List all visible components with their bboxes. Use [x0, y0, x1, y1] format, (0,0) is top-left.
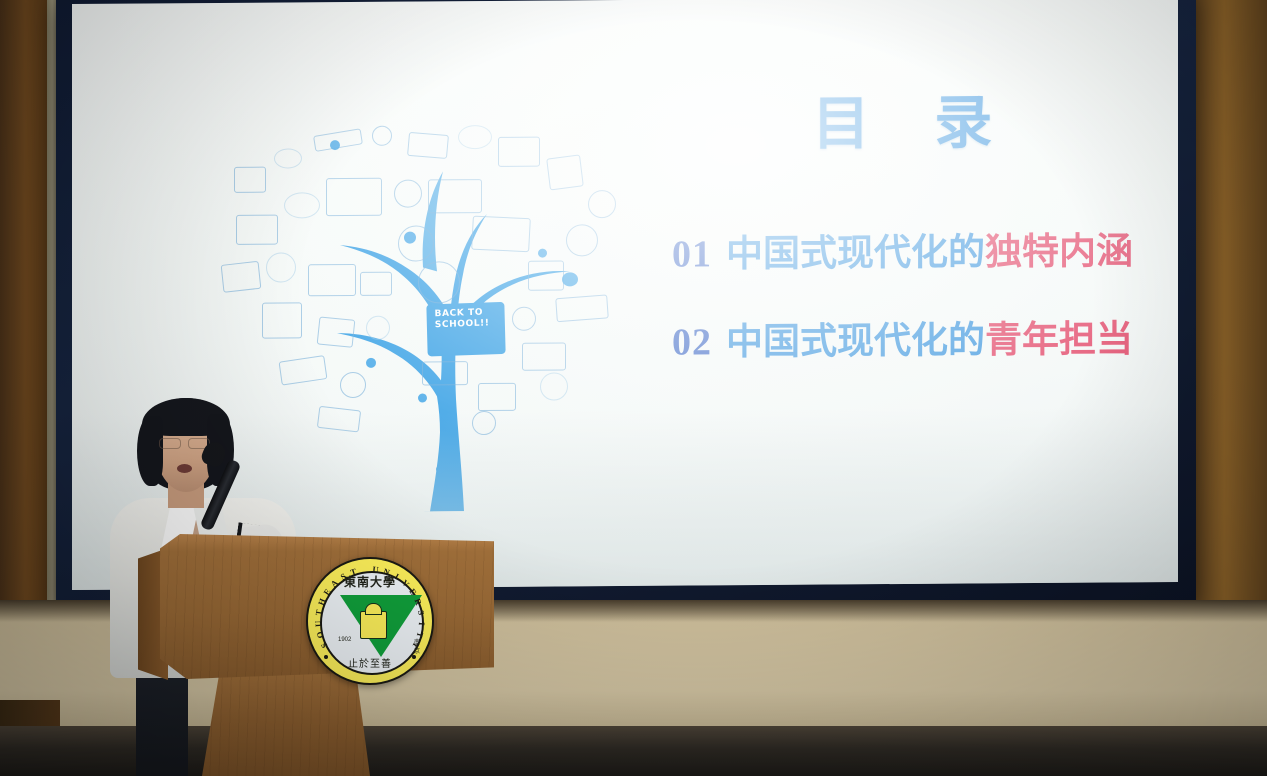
toc-item-01: 01中国式现代化的独特内涵: [672, 232, 1178, 274]
toc-text-blue: 中国式现代化的: [726, 230, 985, 275]
slide-title: 目 录: [812, 74, 1152, 160]
speaker-hair-left: [137, 416, 163, 486]
speaker-mouth: [177, 464, 192, 473]
toc-text-highlight: 青年担当: [985, 317, 1133, 361]
toc-number: 02: [672, 321, 712, 363]
photo-scene: BACK TO SCHOOL!! 目 录 01中国式现代化的独特内涵 02中国式…: [0, 0, 1267, 776]
podium-base: [195, 672, 370, 776]
seal-outer-text: SOUTHEAST UNIVERSITY: [308, 559, 432, 683]
toc-number: 01: [672, 233, 712, 275]
toc-item-02: 02中国式现代化的青年担当: [672, 320, 1178, 362]
table-of-contents: 01中国式现代化的独特内涵 02中国式现代化的青年担当: [672, 232, 1178, 412]
speaker-lower-body: [136, 668, 188, 776]
toc-text-blue: 中国式现代化的: [726, 318, 985, 363]
podium-top-edge: [160, 534, 494, 552]
seal-dot-left: [324, 655, 328, 659]
toc-text-highlight: 独特内涵: [985, 229, 1133, 273]
seal-dot-right: [412, 655, 416, 659]
eyeglass-left: [159, 438, 181, 449]
wood-grain: [195, 672, 370, 776]
university-seal: 1902 南京 東南大學 止於至善 SOUTHEAST UNIVERSITY: [306, 557, 434, 685]
chalkboard-doodle: BACK TO SCHOOL!!: [426, 302, 505, 357]
